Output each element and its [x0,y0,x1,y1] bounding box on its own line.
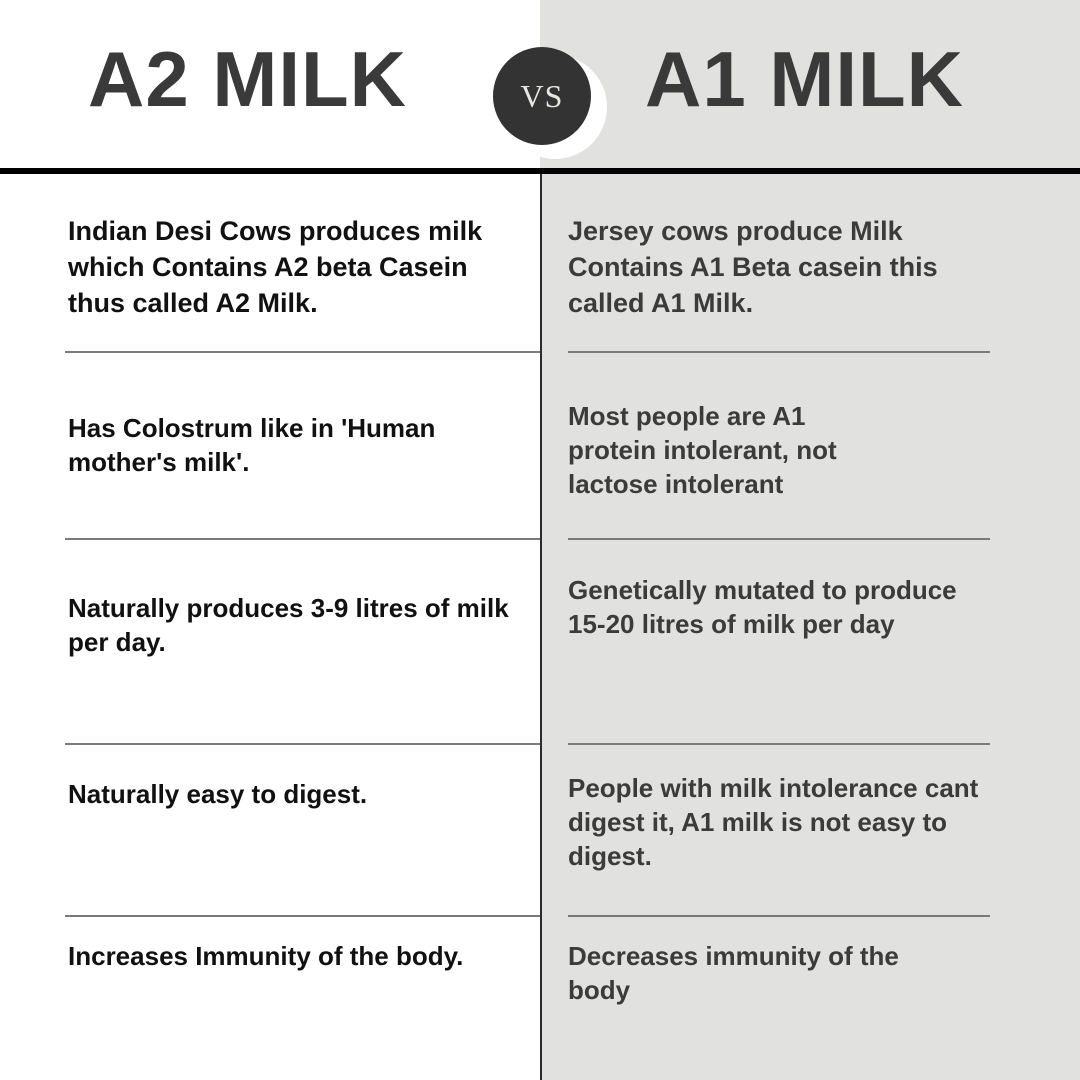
row-2-separator-left [65,538,540,540]
header-title-a2: A2 MILK [88,40,407,118]
row-4-separator-right [568,915,990,917]
row-1-separator-right [568,351,990,353]
row-3-separator-right [568,743,990,745]
row-4-right-cell: People with milk intolerance cant digest… [568,772,1030,873]
row-1-left-cell: Indian Desi Cows produces milk which Con… [68,214,530,322]
comparison-grid: Indian Desi Cows produces milk which Con… [0,174,1080,1080]
row-2-separator-right [568,538,990,540]
vs-badge: VS [493,47,591,145]
row-4-left-text: Naturally easy to digest. [68,778,520,812]
row-3-left-text: Naturally produces 3-9 litres of milk pe… [68,592,520,660]
row-1-right-text: Jersey cows produce Milk Contains A1 Bet… [568,214,998,322]
row-1-left-text: Indian Desi Cows produces milk which Con… [68,214,530,322]
row-2-left-cell: Has Colostrum like in 'Human mother's mi… [68,412,520,480]
row-3-separator-left [65,743,540,745]
row-5-left-text: Increases Immunity of the body. [68,940,520,974]
row-5-left-cell: Increases Immunity of the body. [68,940,520,974]
row-5-right-cell: Decreases immunity of the body [568,940,908,1008]
header-title-a1: A1 MILK [645,40,964,118]
comparison-infographic: A2 MILK VS A1 MILK Indian Desi Cows prod… [0,0,1080,1080]
row-3-right-cell: Genetically mutated to produce 15-20 lit… [568,574,968,642]
row-4-left-cell: Naturally easy to digest. [68,778,520,812]
row-2-right-text: Most people are A1 protein intolerant, n… [568,400,898,501]
vs-badge-label: VS [521,80,564,112]
row-5-right-text: Decreases immunity of the body [568,940,908,1008]
row-3-left-cell: Naturally produces 3-9 litres of milk pe… [68,592,520,660]
row-4-right-text: People with milk intolerance cant digest… [568,772,1030,873]
row-2-right-cell: Most people are A1 protein intolerant, n… [568,400,898,501]
row-3-right-text: Genetically mutated to produce 15-20 lit… [568,574,968,642]
header: A2 MILK VS A1 MILK [0,0,1080,168]
row-4-separator-left [65,915,540,917]
row-2-left-text: Has Colostrum like in 'Human mother's mi… [68,412,520,480]
row-1-separator-left [65,351,540,353]
row-1-right-cell: Jersey cows produce Milk Contains A1 Bet… [568,214,998,322]
